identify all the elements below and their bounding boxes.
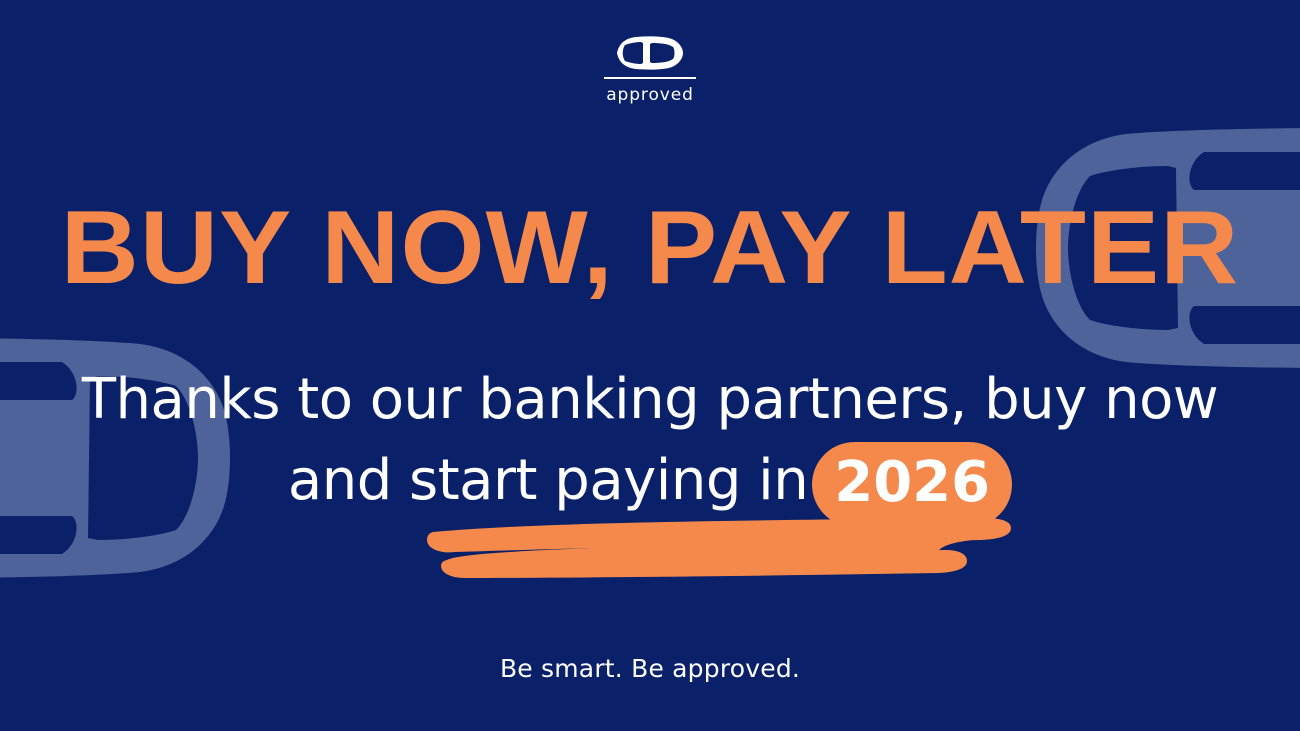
logo-divider bbox=[604, 77, 696, 79]
car-top-view-icon bbox=[616, 36, 684, 70]
subheading-line-2: and start paying in2026 bbox=[0, 440, 1300, 526]
subheading: Thanks to our banking partners, buy now … bbox=[0, 360, 1300, 525]
tagline: Be smart. Be approved. bbox=[0, 654, 1300, 683]
brand-logo: approved bbox=[0, 36, 1300, 105]
logo-wordmark: approved bbox=[606, 85, 694, 105]
promotional-banner: approved BUY NOW, PAY LATER Thanks to ou… bbox=[0, 0, 1300, 731]
highlight-year-badge: 2026 bbox=[812, 442, 1012, 528]
page-title: BUY NOW, PAY LATER bbox=[0, 196, 1300, 300]
subheading-line-2-text: and start paying in bbox=[288, 448, 808, 513]
subheading-line-1: Thanks to our banking partners, buy now bbox=[0, 360, 1300, 440]
